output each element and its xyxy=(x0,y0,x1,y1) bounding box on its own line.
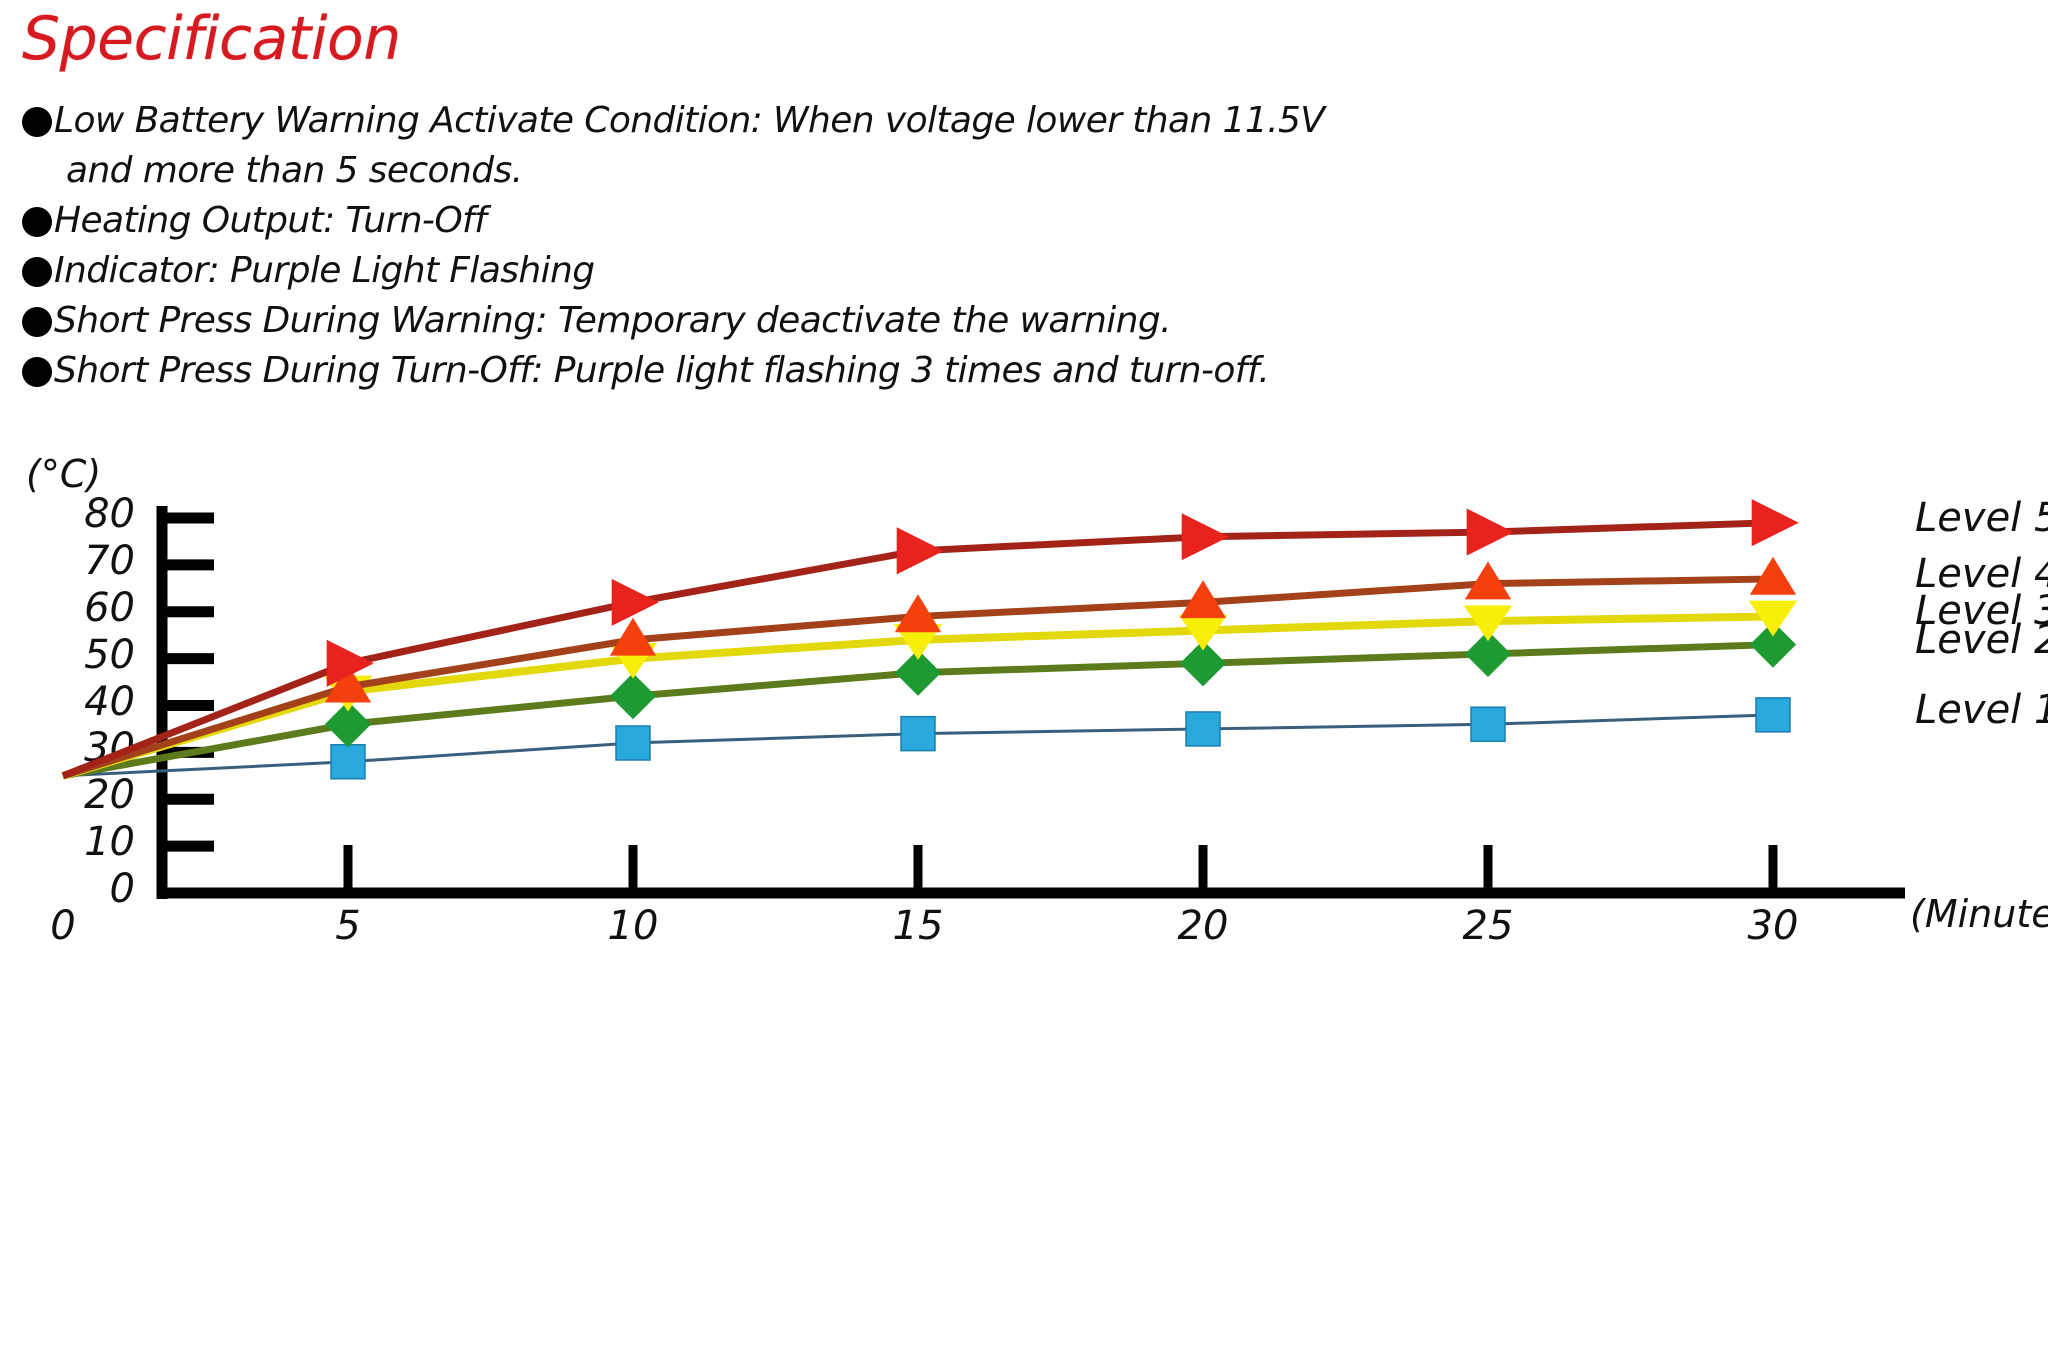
list-item-label: Short Press During Turn-Off: Purple ligh… xyxy=(54,346,1269,396)
list-item: Low Battery Warning Activate Condition: … xyxy=(22,96,1722,146)
list-item: Heating Output: Turn-Off xyxy=(22,196,1722,246)
specification-list: Low Battery Warning Activate Condition: … xyxy=(22,96,1722,396)
list-item: Short Press During Warning: Temporary de… xyxy=(22,296,1722,346)
list-item: Indicator: Purple Light Flashing xyxy=(22,246,1722,296)
legend-item-level-5[interactable]: Level 5 xyxy=(1915,495,2048,541)
list-item-continuation: and more than 5 seconds. xyxy=(22,146,1722,196)
list-item-label: Heating Output: Turn-Off xyxy=(54,196,486,246)
page-title: Specification xyxy=(22,4,401,74)
series-level-1 xyxy=(63,698,1790,779)
list-item-label: Indicator: Purple Light Flashing xyxy=(54,246,595,296)
list-item-label: Short Press During Warning: Temporary de… xyxy=(54,296,1171,346)
plot-area xyxy=(0,440,2048,960)
legend-item-level-1[interactable]: Level 1 xyxy=(1915,687,2048,733)
bullet-dot-icon xyxy=(22,357,52,387)
bullet-dot-icon xyxy=(22,107,52,137)
legend-item-level-2[interactable]: Level 2 xyxy=(1915,617,2048,663)
bullet-dot-icon xyxy=(22,207,52,237)
bullet-dot-icon xyxy=(22,307,52,337)
list-item: Short Press During Turn-Off: Purple ligh… xyxy=(22,346,1722,396)
temperature-chart: (°C) 01020304050607080 051015202530 (Min… xyxy=(0,440,2048,960)
list-item-label: and more than 5 seconds. xyxy=(66,146,522,196)
list-item-label: Low Battery Warning Activate Condition: … xyxy=(54,96,1324,146)
bullet-dot-icon xyxy=(22,257,52,287)
